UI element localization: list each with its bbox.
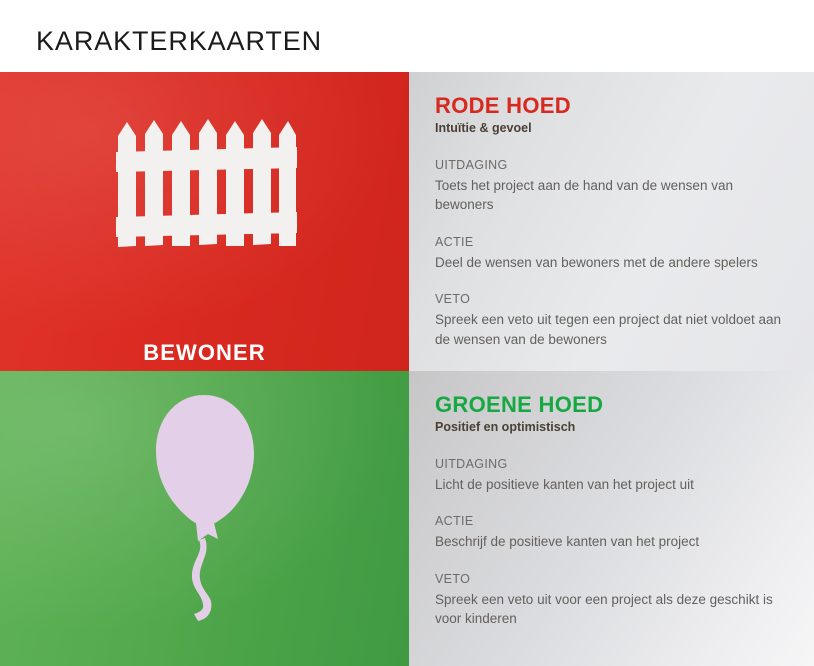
card-row-kind: KIND GROENE HOED Positief en optimistisc… (0, 371, 814, 666)
info-block-uitdaging-rode-hoed: UITDAGING Toets het project aan de hand … (435, 158, 795, 215)
block-label-veto: VETO (435, 572, 795, 587)
character-panel-kind: KIND (0, 371, 409, 666)
slide-header: KARAKTERKAARTEN (0, 0, 814, 72)
block-label-veto: VETO (435, 292, 795, 307)
info-content-groene-hoed: GROENE HOED Positief en optimistisch UIT… (435, 393, 795, 629)
hat-title-groene-hoed: GROENE HOED (435, 393, 795, 418)
hat-subtitle-groene-hoed: Positief en optimistisch (435, 420, 795, 435)
block-label-actie: ACTIE (435, 514, 795, 529)
info-block-veto-rode-hoed: VETO Spreek een veto uit tegen een proje… (435, 292, 795, 349)
character-panel-bewoner: BEWONER (0, 72, 409, 371)
card-row-bewoner: BEWONER RODE HOED Intuïtie & gevoel UITD… (0, 72, 814, 371)
info-block-veto-groene-hoed: VETO Spreek een veto uit voor een projec… (435, 572, 795, 629)
block-label-actie: ACTIE (435, 235, 795, 250)
info-block-actie-groene-hoed: ACTIE Beschrijf de positieve kanten van … (435, 514, 795, 552)
hat-subtitle-rode-hoed: Intuïtie & gevoel (435, 121, 795, 136)
block-text-uitdaging: Toets het project aan de hand van de wen… (435, 176, 787, 215)
info-panel-groene-hoed: GROENE HOED Positief en optimistisch UIT… (409, 371, 814, 666)
block-text-veto: Spreek een veto uit voor een project als… (435, 590, 787, 629)
info-block-actie-rode-hoed: ACTIE Deel de wensen van bewoners met de… (435, 235, 795, 273)
illustration-kind: KIND (0, 371, 409, 666)
block-text-actie: Deel de wensen van bewoners met de ander… (435, 253, 787, 273)
block-text-veto: Spreek een veto uit tegen een project da… (435, 310, 787, 349)
balloon-icon (148, 393, 268, 623)
block-text-actie: Beschrijf de positieve kanten van het pr… (435, 532, 787, 552)
fence-icon (112, 116, 298, 251)
info-block-uitdaging-groene-hoed: UITDAGING Licht de positieve kanten van … (435, 457, 795, 495)
slide-canvas: KARAKTERKAARTEN (0, 0, 814, 666)
illustration-bewoner: BEWONER (0, 72, 409, 371)
info-content-rode-hoed: RODE HOED Intuïtie & gevoel UITDAGING To… (435, 94, 795, 349)
info-panel-rode-hoed: RODE HOED Intuïtie & gevoel UITDAGING To… (409, 72, 814, 371)
character-label-bewoner: BEWONER (0, 340, 409, 366)
block-text-uitdaging: Licht de positieve kanten van het projec… (435, 475, 787, 495)
block-label-uitdaging: UITDAGING (435, 457, 795, 472)
page-title: KARAKTERKAARTEN (36, 26, 322, 57)
block-label-uitdaging: UITDAGING (435, 158, 795, 173)
hat-title-rode-hoed: RODE HOED (435, 94, 795, 119)
